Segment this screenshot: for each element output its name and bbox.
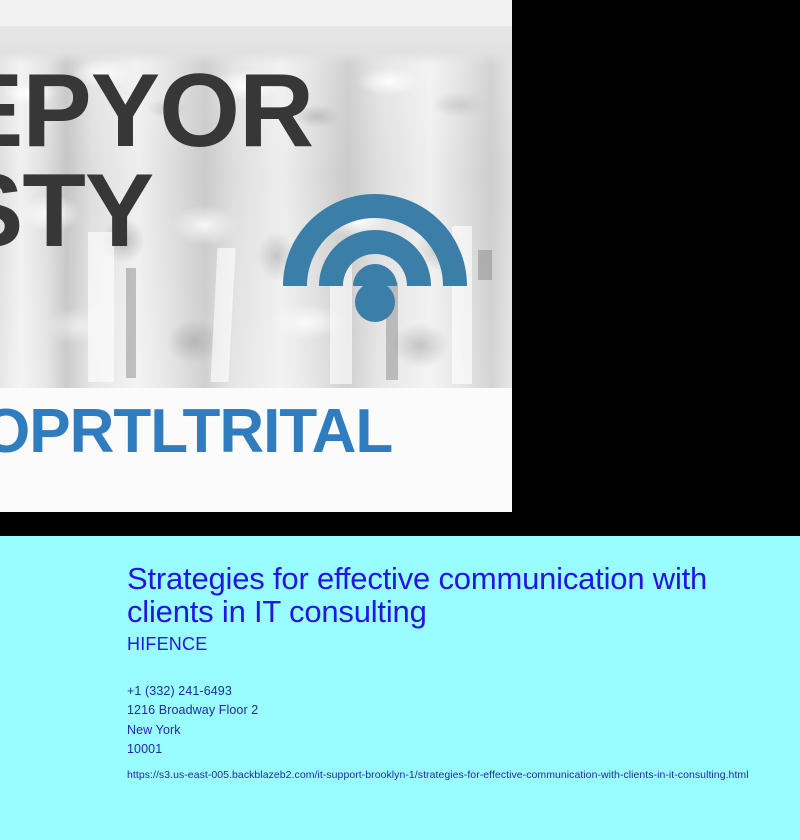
photo-building-slab bbox=[210, 248, 235, 382]
hero-media-block: EPYOR STY OPRTLTRITAL bbox=[0, 0, 512, 512]
contact-block: +1 (332) 241-6493 1216 Broadway Floor 2 … bbox=[127, 682, 778, 785]
hero-headline-line-1: EPYOR bbox=[0, 62, 512, 162]
page-title: Strategies for effective communication w… bbox=[127, 562, 778, 629]
photo-shadow-slab bbox=[126, 268, 136, 378]
brand-name: HIFENCE bbox=[127, 634, 778, 656]
contact-phone: +1 (332) 241-6493 bbox=[127, 682, 778, 702]
hero-logo-banner: OPRTLTRITAL bbox=[0, 388, 512, 512]
page-root: EPYOR STY OPRTLTRITAL bbox=[0, 0, 800, 840]
hero-logo-text: OPRTLTRITAL bbox=[0, 396, 392, 467]
content-card: Strategies for effective communication w… bbox=[0, 536, 800, 840]
content-inner: Strategies for effective communication w… bbox=[127, 562, 778, 785]
contact-postal-code: 10001 bbox=[127, 740, 778, 760]
contact-city: New York bbox=[127, 721, 778, 741]
source-url-link[interactable]: https://s3.us-east-005.backblazeb2.com/i… bbox=[127, 766, 778, 785]
contact-address-line1: 1216 Broadway Floor 2 bbox=[127, 701, 778, 721]
wifi-icon bbox=[283, 190, 467, 322]
